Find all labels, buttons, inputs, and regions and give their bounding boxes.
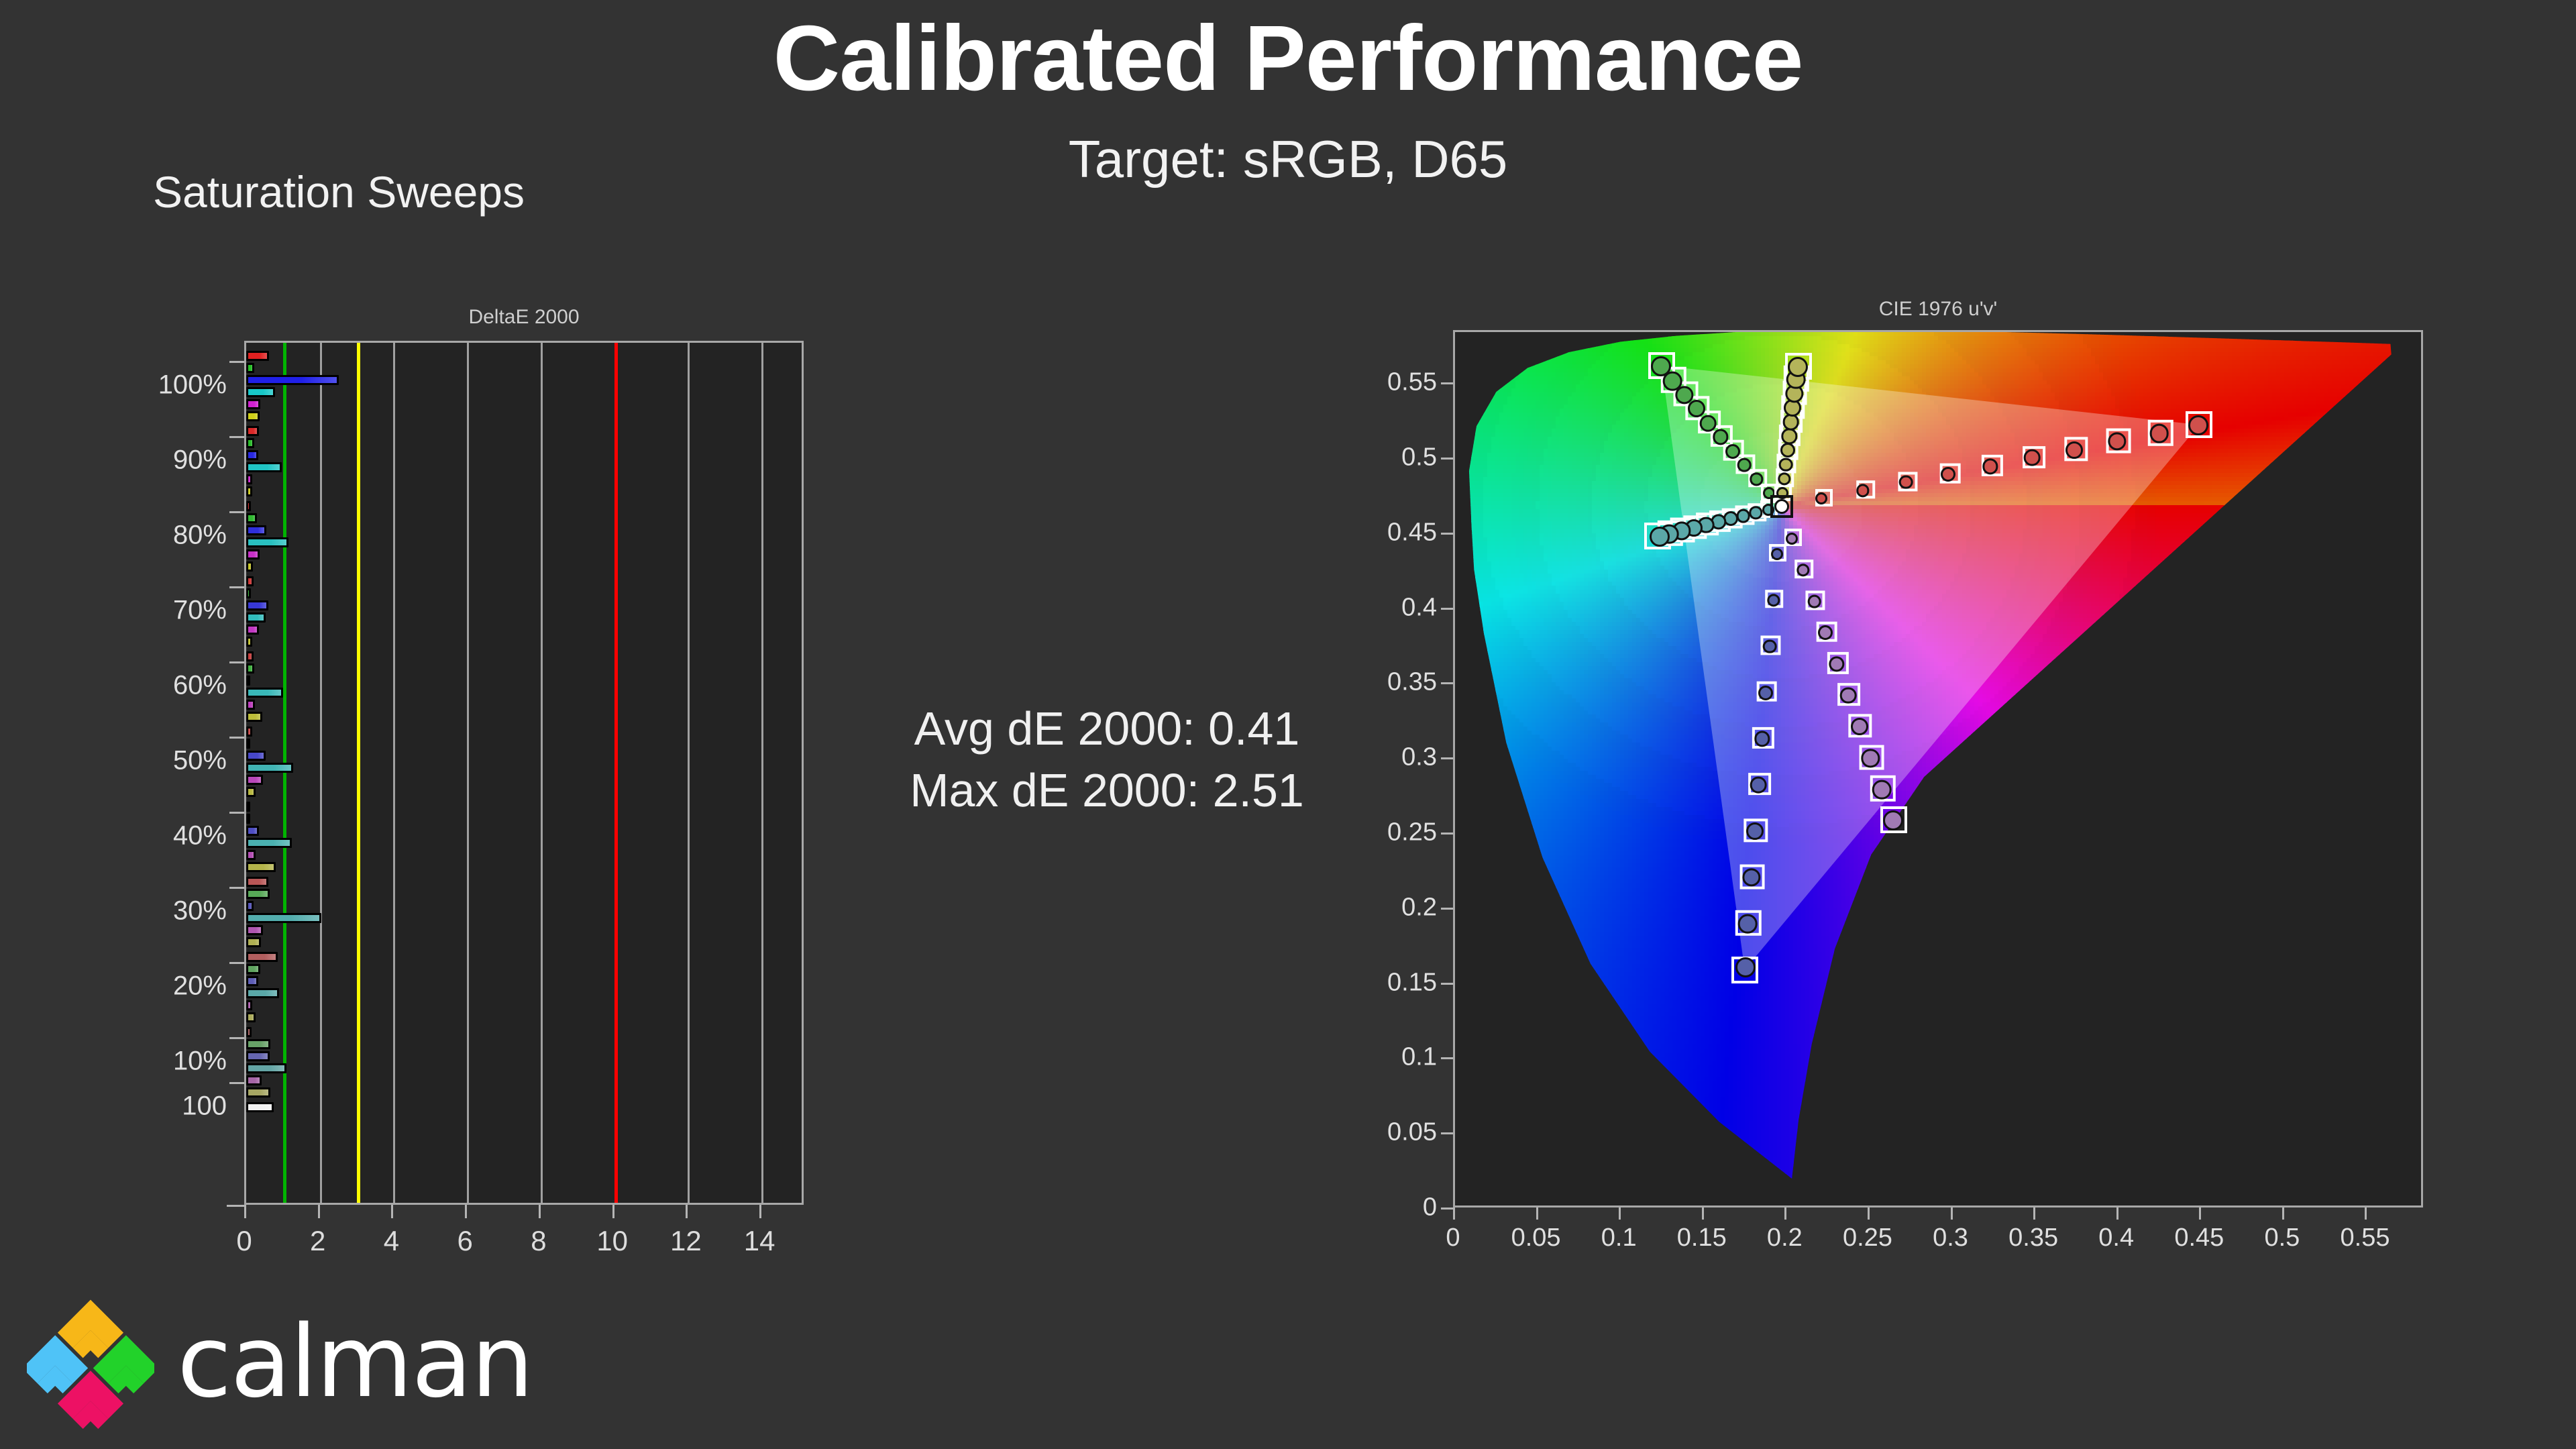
cie-measured-marker bbox=[1771, 548, 1783, 560]
cie-measured-marker bbox=[1786, 533, 1798, 545]
deltae-y-label: 40% bbox=[173, 821, 227, 851]
cie-measured-marker bbox=[1758, 686, 1773, 700]
cie-y-label: 0.05 bbox=[1387, 1118, 1437, 1147]
deltae-y-tick bbox=[229, 812, 244, 814]
cie-measured-marker bbox=[1780, 443, 1795, 458]
cie-y-label: 0.35 bbox=[1387, 668, 1437, 697]
deltae-bar bbox=[246, 1039, 270, 1049]
deltae-bar bbox=[246, 1012, 256, 1022]
cie-x-tick bbox=[2033, 1207, 2035, 1220]
cie-measured-marker bbox=[1807, 594, 1821, 608]
deltae-y-label: 10% bbox=[173, 1046, 227, 1077]
cie-y-label: 0.5 bbox=[1401, 443, 1437, 472]
deltae-bar bbox=[246, 625, 259, 635]
deltae-y-label: 50% bbox=[173, 746, 227, 776]
cie-measured-marker bbox=[1815, 492, 1827, 504]
deltae-bar bbox=[246, 501, 251, 511]
deltae-bar bbox=[246, 663, 254, 674]
cie-measured-marker bbox=[1735, 957, 1756, 977]
section-label: Saturation Sweeps bbox=[153, 166, 525, 217]
deltae-bar bbox=[246, 925, 263, 935]
deltae-bar bbox=[246, 438, 254, 448]
cie-y-label: 0 bbox=[1423, 1193, 1437, 1222]
cie-chart-title: CIE 1976 u'v' bbox=[1453, 298, 2423, 321]
deltae-chart-title: DeltaE 2000 bbox=[244, 306, 804, 329]
deltae-bar bbox=[246, 862, 276, 872]
deltae-gridline bbox=[467, 343, 469, 1203]
cie-measured-marker bbox=[1737, 458, 1752, 472]
cie-x-tick bbox=[1453, 1207, 1455, 1220]
cie-gamut-svg bbox=[1455, 332, 2421, 1205]
deltae-y-label: 60% bbox=[173, 671, 227, 701]
cie-x-label: 0.2 bbox=[1767, 1224, 1803, 1252]
cie-x-label: 0.35 bbox=[2008, 1224, 2058, 1252]
cie-measured-marker bbox=[1746, 822, 1764, 840]
deltae-bar bbox=[246, 411, 260, 421]
cie-x-tick bbox=[1868, 1207, 1870, 1220]
deltae-bar bbox=[246, 901, 254, 911]
calman-logo: calman bbox=[27, 1295, 533, 1429]
deltae-y-tick bbox=[229, 586, 244, 588]
cie-x-tick bbox=[2116, 1207, 2118, 1220]
cie-measured-marker bbox=[1851, 718, 1868, 735]
deltae-x-label: 10 bbox=[596, 1225, 628, 1257]
cie-x-tick bbox=[1951, 1207, 1953, 1220]
cie-measured-marker bbox=[1650, 527, 1670, 547]
deltae-y-tick bbox=[229, 1037, 244, 1039]
deltae-x-label: 14 bbox=[744, 1225, 775, 1257]
deltae-bar bbox=[246, 1027, 252, 1037]
deltae-x-tick bbox=[391, 1205, 393, 1218]
deltae-x-label: 4 bbox=[384, 1225, 399, 1257]
deltae-gridline bbox=[541, 343, 543, 1203]
deltae-bar bbox=[246, 712, 262, 722]
max-de-value: Max dE 2000: 2.51 bbox=[872, 759, 1342, 821]
deltae-bar bbox=[246, 399, 260, 409]
deltae-gridline bbox=[320, 343, 322, 1203]
deltae-x-label: 2 bbox=[310, 1225, 325, 1257]
cie-x-label: 0.55 bbox=[2341, 1224, 2390, 1252]
deltae-bar bbox=[246, 1075, 262, 1085]
cie-x-tick bbox=[1784, 1207, 1786, 1220]
deltae-bar bbox=[246, 1087, 270, 1097]
cie-y-tick bbox=[1441, 983, 1453, 985]
cie-x-tick bbox=[1619, 1207, 1621, 1220]
deltae-bar bbox=[246, 1051, 270, 1061]
deltae-y-tick bbox=[229, 436, 244, 438]
cie-x-label: 0.3 bbox=[1933, 1224, 1968, 1252]
deltae-bar bbox=[246, 637, 252, 647]
cie-x-tick bbox=[2282, 1207, 2284, 1220]
cie-measured-marker bbox=[1750, 777, 1767, 794]
cie-y-tick bbox=[1441, 1207, 1453, 1210]
cie-measured-marker bbox=[2065, 441, 2083, 459]
cie-measured-marker bbox=[2188, 415, 2208, 435]
cie-x-tick bbox=[1536, 1207, 1538, 1220]
cie-x-label: 0.1 bbox=[1601, 1224, 1637, 1252]
deltae-bar bbox=[246, 739, 250, 749]
cie-y-label: 0.25 bbox=[1387, 818, 1437, 847]
deltae-y-label: 70% bbox=[173, 596, 227, 626]
deltae-bar bbox=[246, 850, 256, 860]
deltae-y-tick bbox=[229, 962, 244, 964]
deltae-x-label: 12 bbox=[670, 1225, 702, 1257]
cie-y-tick bbox=[1441, 1057, 1453, 1059]
deltae-bar bbox=[246, 688, 283, 698]
cie-y-label: 0.1 bbox=[1401, 1043, 1437, 1072]
cie-x-tick bbox=[2365, 1207, 2367, 1220]
cie-y-tick bbox=[1441, 533, 1453, 535]
deltae-bar bbox=[246, 976, 258, 986]
cie-measured-marker bbox=[1738, 914, 1758, 934]
cie-measured-marker bbox=[1883, 810, 1903, 830]
summary-stats: Avg dE 2000: 0.41 Max dE 2000: 2.51 bbox=[872, 698, 1342, 822]
deltae-x-tick bbox=[465, 1205, 467, 1218]
deltae-y-tick bbox=[229, 661, 244, 663]
deltae-bar bbox=[246, 576, 254, 586]
deltae-bar bbox=[246, 814, 250, 824]
deltae-bar bbox=[246, 1102, 274, 1112]
deltae-x-label: 8 bbox=[531, 1225, 546, 1257]
calman-diamond-icon bbox=[27, 1295, 154, 1429]
cie-measured-marker bbox=[1840, 687, 1857, 704]
deltae-x-tick bbox=[759, 1205, 761, 1218]
deltae-bar bbox=[246, 787, 256, 797]
deltae-bar bbox=[246, 351, 269, 361]
deltae-y-label: 100% bbox=[158, 370, 227, 400]
cie-measured-marker bbox=[1779, 458, 1793, 472]
deltae-bar bbox=[246, 537, 288, 547]
deltae-bar bbox=[246, 826, 259, 836]
deltae-bar bbox=[246, 525, 266, 535]
cie-x-tick bbox=[2199, 1207, 2201, 1220]
cie-y-tick bbox=[1441, 1132, 1453, 1134]
cie-measured-marker bbox=[1899, 475, 1913, 489]
cie-y-tick bbox=[1441, 682, 1453, 684]
deltae-bar bbox=[246, 676, 250, 686]
cie-measured-marker bbox=[1736, 509, 1750, 523]
deltae-y-label: 20% bbox=[173, 971, 227, 1002]
deltae-bar bbox=[246, 937, 261, 947]
cie-measured-marker bbox=[1774, 499, 1789, 514]
cie-measured-marker bbox=[1763, 639, 1777, 653]
cie-y-label: 0.4 bbox=[1401, 593, 1437, 622]
cie-x-label: 0.15 bbox=[1677, 1224, 1727, 1252]
deltae-bar bbox=[246, 450, 258, 460]
deltae-y-tick bbox=[229, 511, 244, 513]
avg-de-value: Avg dE 2000: 0.41 bbox=[872, 698, 1342, 759]
cie-y-tick bbox=[1441, 757, 1453, 759]
deltae-bar bbox=[246, 588, 251, 598]
cie-chart: 00.050.10.150.20.250.30.350.40.450.50.55… bbox=[1453, 330, 2423, 1207]
deltae-bar bbox=[246, 1063, 286, 1073]
cie-x-label: 0.25 bbox=[1843, 1224, 1892, 1252]
deltae-bar bbox=[246, 964, 260, 974]
deltae-y-tick bbox=[229, 361, 244, 363]
deltae-bar bbox=[246, 988, 279, 998]
cie-y-tick bbox=[1441, 608, 1453, 610]
deltae-x-tick bbox=[612, 1205, 614, 1218]
deltae-x-tick bbox=[244, 1205, 246, 1218]
deltae-bar bbox=[246, 952, 278, 962]
deltae-bar bbox=[246, 889, 270, 899]
cie-measured-marker bbox=[1941, 467, 1955, 482]
cie-y-label: 0.15 bbox=[1387, 968, 1437, 997]
deltae-bar bbox=[246, 363, 254, 373]
cie-measured-marker bbox=[1651, 356, 1671, 376]
deltae-bar bbox=[246, 913, 321, 923]
deltae-x-label: 0 bbox=[236, 1225, 252, 1257]
cie-measured-marker bbox=[1872, 780, 1892, 800]
deltae-bar bbox=[246, 651, 254, 661]
cie-measured-marker bbox=[1700, 415, 1717, 432]
deltae-axis-origin-tick bbox=[227, 1205, 244, 1207]
deltae-bar bbox=[246, 763, 293, 773]
deltae-y-label: 90% bbox=[173, 445, 227, 476]
deltae-bar bbox=[246, 775, 263, 785]
cie-y-tick bbox=[1441, 908, 1453, 910]
deltae-bar bbox=[246, 375, 339, 385]
cie-x-label: 0 bbox=[1446, 1224, 1460, 1252]
deltae-x-tick bbox=[539, 1205, 541, 1218]
deltae-x-tick bbox=[318, 1205, 320, 1218]
cie-measured-marker bbox=[2024, 449, 2041, 466]
cie-measured-marker bbox=[1788, 357, 1808, 377]
calman-wordmark: calman bbox=[177, 1304, 533, 1419]
deltae-bar bbox=[246, 1000, 252, 1010]
deltae-y-label: 100 bbox=[182, 1091, 227, 1122]
deltae-bar bbox=[246, 462, 282, 472]
deltae-y-tick bbox=[229, 737, 244, 739]
deltae-bar bbox=[246, 486, 252, 496]
page-title: Calibrated Performance bbox=[0, 12, 2576, 105]
deltae-bar bbox=[246, 700, 255, 710]
deltae-y-tick bbox=[229, 887, 244, 889]
deltae-y-label: 30% bbox=[173, 896, 227, 926]
deltae-x-label: 6 bbox=[458, 1225, 473, 1257]
deltae-bar bbox=[246, 387, 275, 397]
cie-y-label: 0.2 bbox=[1401, 893, 1437, 922]
cie-measured-marker bbox=[1688, 400, 1705, 417]
deltae-bar bbox=[246, 727, 252, 737]
deltae-bar bbox=[246, 600, 268, 610]
deltae-gridline bbox=[761, 343, 763, 1203]
deltae-bar bbox=[246, 549, 260, 559]
deltae-bar bbox=[246, 802, 250, 812]
deltae-plot-area bbox=[244, 341, 804, 1205]
cie-x-tick bbox=[1702, 1207, 1704, 1220]
deltae-reference-line bbox=[614, 343, 618, 1203]
deltae-bar bbox=[246, 474, 252, 484]
cie-y-label: 0.3 bbox=[1401, 743, 1437, 772]
deltae-reference-line bbox=[357, 343, 360, 1203]
cie-measured-marker bbox=[1725, 444, 1740, 459]
deltae-bar bbox=[246, 877, 268, 887]
deltae-bar bbox=[246, 426, 259, 436]
deltae-reference-line bbox=[283, 343, 286, 1203]
cie-measured-marker bbox=[1818, 625, 1833, 640]
deltae-bar bbox=[246, 513, 257, 523]
cie-x-label: 0.05 bbox=[1511, 1224, 1561, 1252]
deltae-gridline bbox=[393, 343, 395, 1203]
cie-y-tick bbox=[1441, 458, 1453, 460]
cie-y-label: 0.45 bbox=[1387, 518, 1437, 547]
cie-plot-area bbox=[1453, 330, 2423, 1207]
deltae-bar bbox=[246, 561, 253, 572]
deltae-y-label: 80% bbox=[173, 521, 227, 551]
cie-y-label: 0.55 bbox=[1387, 368, 1437, 397]
cie-x-label: 0.4 bbox=[2098, 1224, 2134, 1252]
deltae-bar bbox=[246, 612, 266, 623]
deltae-chart: 24681012140100%90%80%70%60%50%40%30%20%1… bbox=[244, 341, 804, 1205]
deltae-bar bbox=[246, 751, 266, 761]
deltae-gridline bbox=[688, 343, 690, 1203]
deltae-bar bbox=[246, 838, 292, 848]
deltae-y-tick bbox=[229, 1082, 244, 1084]
cie-y-tick bbox=[1441, 382, 1453, 384]
cie-measured-marker bbox=[2149, 424, 2169, 443]
cie-x-label: 0.5 bbox=[2264, 1224, 2300, 1252]
cie-x-label: 0.45 bbox=[2174, 1224, 2224, 1252]
cie-y-tick bbox=[1441, 833, 1453, 835]
deltae-x-tick bbox=[686, 1205, 688, 1218]
